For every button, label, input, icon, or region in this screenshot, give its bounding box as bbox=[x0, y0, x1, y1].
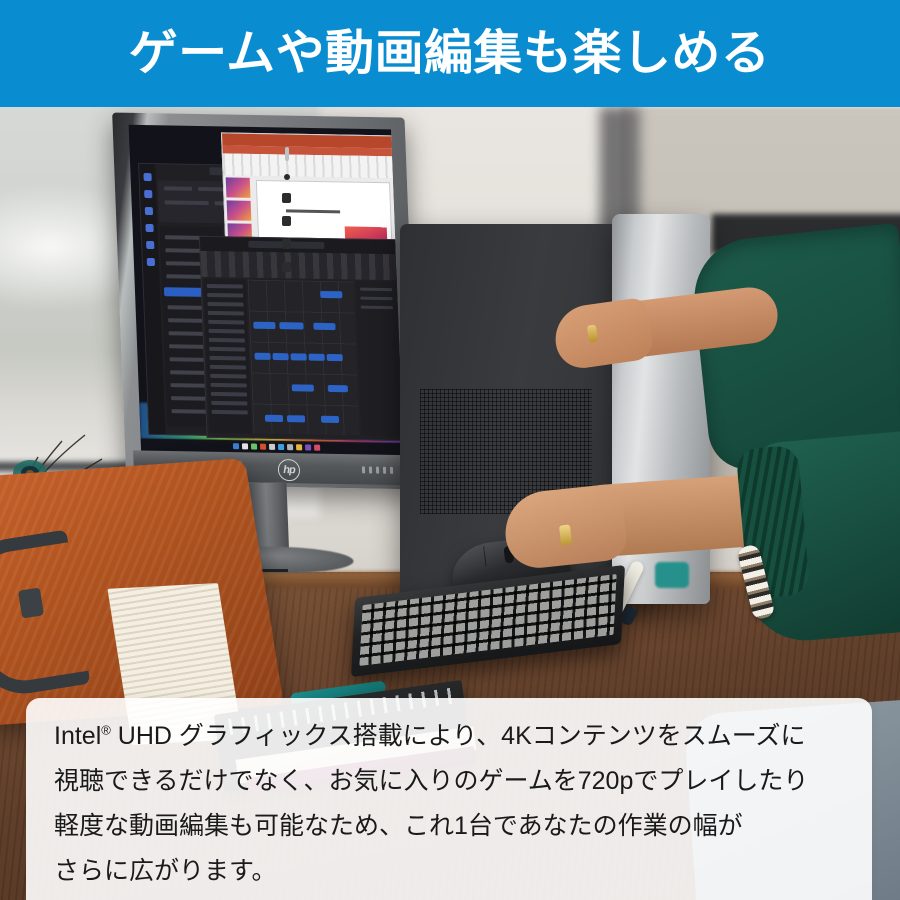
mouse-button-split bbox=[483, 546, 486, 566]
header-banner: ゲームや動画編集も楽しめる bbox=[0, 0, 900, 107]
usb-port-icon bbox=[282, 262, 291, 272]
usb-port-icon bbox=[282, 239, 291, 249]
usb-port-icon bbox=[282, 216, 291, 226]
calendar-detail-pane bbox=[356, 282, 402, 437]
registered-mark-icon: ® bbox=[101, 723, 111, 738]
description-text: Intel® UHD グラフィックス搭載により、4Kコンテンツをスムーズに 視聴… bbox=[54, 714, 854, 894]
calendar-toolbar bbox=[200, 251, 397, 280]
promo-page: ゲームや動画編集も楽しめる bbox=[0, 0, 900, 900]
gold-ring bbox=[559, 524, 572, 545]
monitor-screen bbox=[129, 125, 404, 457]
description-line-1: Intel® UHD グラフィックス搭載により、4Kコンテンツをスムーズに bbox=[54, 714, 854, 759]
description-line-2: 視聴できるだけでなく、お気に入りのゲームを720pでプレイしたり bbox=[54, 759, 854, 804]
mini-calendar-pane bbox=[204, 279, 252, 434]
description-line-4: さらに広がります。 bbox=[54, 849, 854, 894]
headphone-jack-icon bbox=[284, 174, 290, 180]
monitor-control-buttons[interactable] bbox=[362, 466, 393, 474]
power-button-icon[interactable] bbox=[285, 147, 289, 161]
description-line-1-rest: UHD グラフィックス搭載により、4Kコンテンツをスムーズに bbox=[111, 722, 806, 750]
description-panel: Intel® UHD グラフィックス搭載により、4Kコンテンツをスムーズに 視聴… bbox=[26, 698, 872, 900]
hp-monitor: hp bbox=[112, 113, 428, 518]
calendar-window bbox=[199, 236, 404, 441]
description-line-3: 軽度な動画編集も可能なため、これ1台であなたの作業の幅が bbox=[54, 804, 854, 849]
calendar-month-grid bbox=[248, 280, 360, 436]
hp-logo-icon: hp bbox=[278, 459, 301, 481]
intel-label: Intel bbox=[54, 722, 101, 750]
usb-port-icon bbox=[282, 193, 291, 203]
taskbar-icons bbox=[233, 443, 320, 451]
strap-buckle bbox=[18, 587, 44, 618]
tower-port-cluster[interactable] bbox=[282, 147, 292, 285]
teal-desk-object bbox=[655, 562, 689, 588]
banner-title: ゲームや動画編集も楽しめる bbox=[129, 30, 771, 78]
